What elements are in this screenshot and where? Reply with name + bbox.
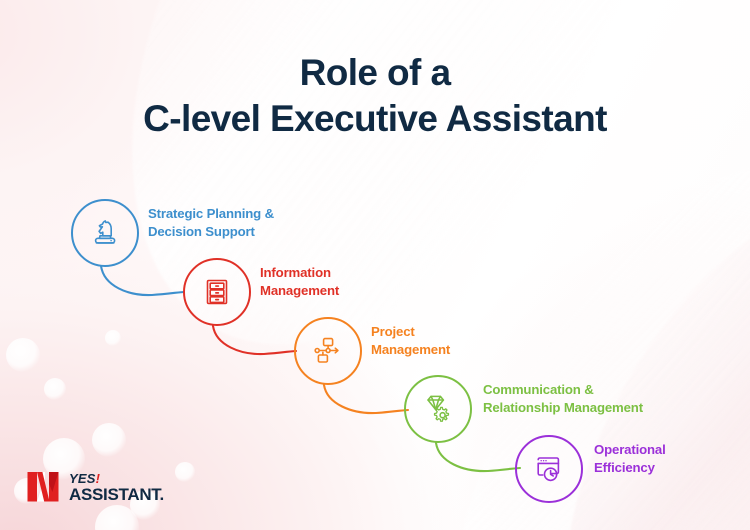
background-bokeh [92, 423, 126, 457]
page-title: Role of a C-level Executive Assistant [0, 50, 750, 142]
logo-yes-word: YES [69, 471, 96, 486]
step-item-communication-relationship[interactable]: Communication & Relationship Management [404, 375, 474, 445]
background-bokeh [6, 338, 40, 372]
step-label: Strategic Planning & Decision Support [148, 205, 348, 240]
step-item-strategic-planning[interactable]: Strategic Planning & Decision Support [71, 199, 141, 269]
logo-yes-text: YES! [69, 472, 164, 485]
step-item-project-management[interactable]: Project Management [294, 317, 364, 387]
brand-logo[interactable]: YES! ASSISTANT. [26, 470, 164, 504]
step-label: Communication & Relationship Management [483, 381, 723, 416]
workflow-diagram-icon [294, 317, 362, 385]
step-item-information-management[interactable]: Information Management [183, 258, 253, 328]
logo-wordmark: YES! ASSISTANT. [69, 472, 164, 503]
title-line-1: Role of a [0, 50, 750, 96]
logo-assistant-text: ASSISTANT. [69, 486, 164, 503]
browser-clock-icon [515, 435, 583, 503]
filing-cabinet-icon [183, 258, 251, 326]
logo-exclamation: ! [96, 471, 101, 486]
step-label: Project Management [371, 323, 551, 358]
diamond-gear-icon [404, 375, 472, 443]
step-label: Information Management [260, 264, 440, 299]
title-line-2: C-level Executive Assistant [0, 96, 750, 142]
step-label: Operational Efficiency [594, 441, 750, 476]
infographic-canvas: Role of a C-level Executive Assistant St… [0, 0, 750, 530]
background-bokeh [175, 462, 195, 482]
yes-assistant-logo-mark [26, 470, 62, 504]
background-bokeh [105, 330, 121, 346]
chess-knight-icon [71, 199, 139, 267]
step-item-operational-efficiency[interactable]: Operational Efficiency [515, 435, 585, 505]
background-bokeh [44, 378, 66, 400]
